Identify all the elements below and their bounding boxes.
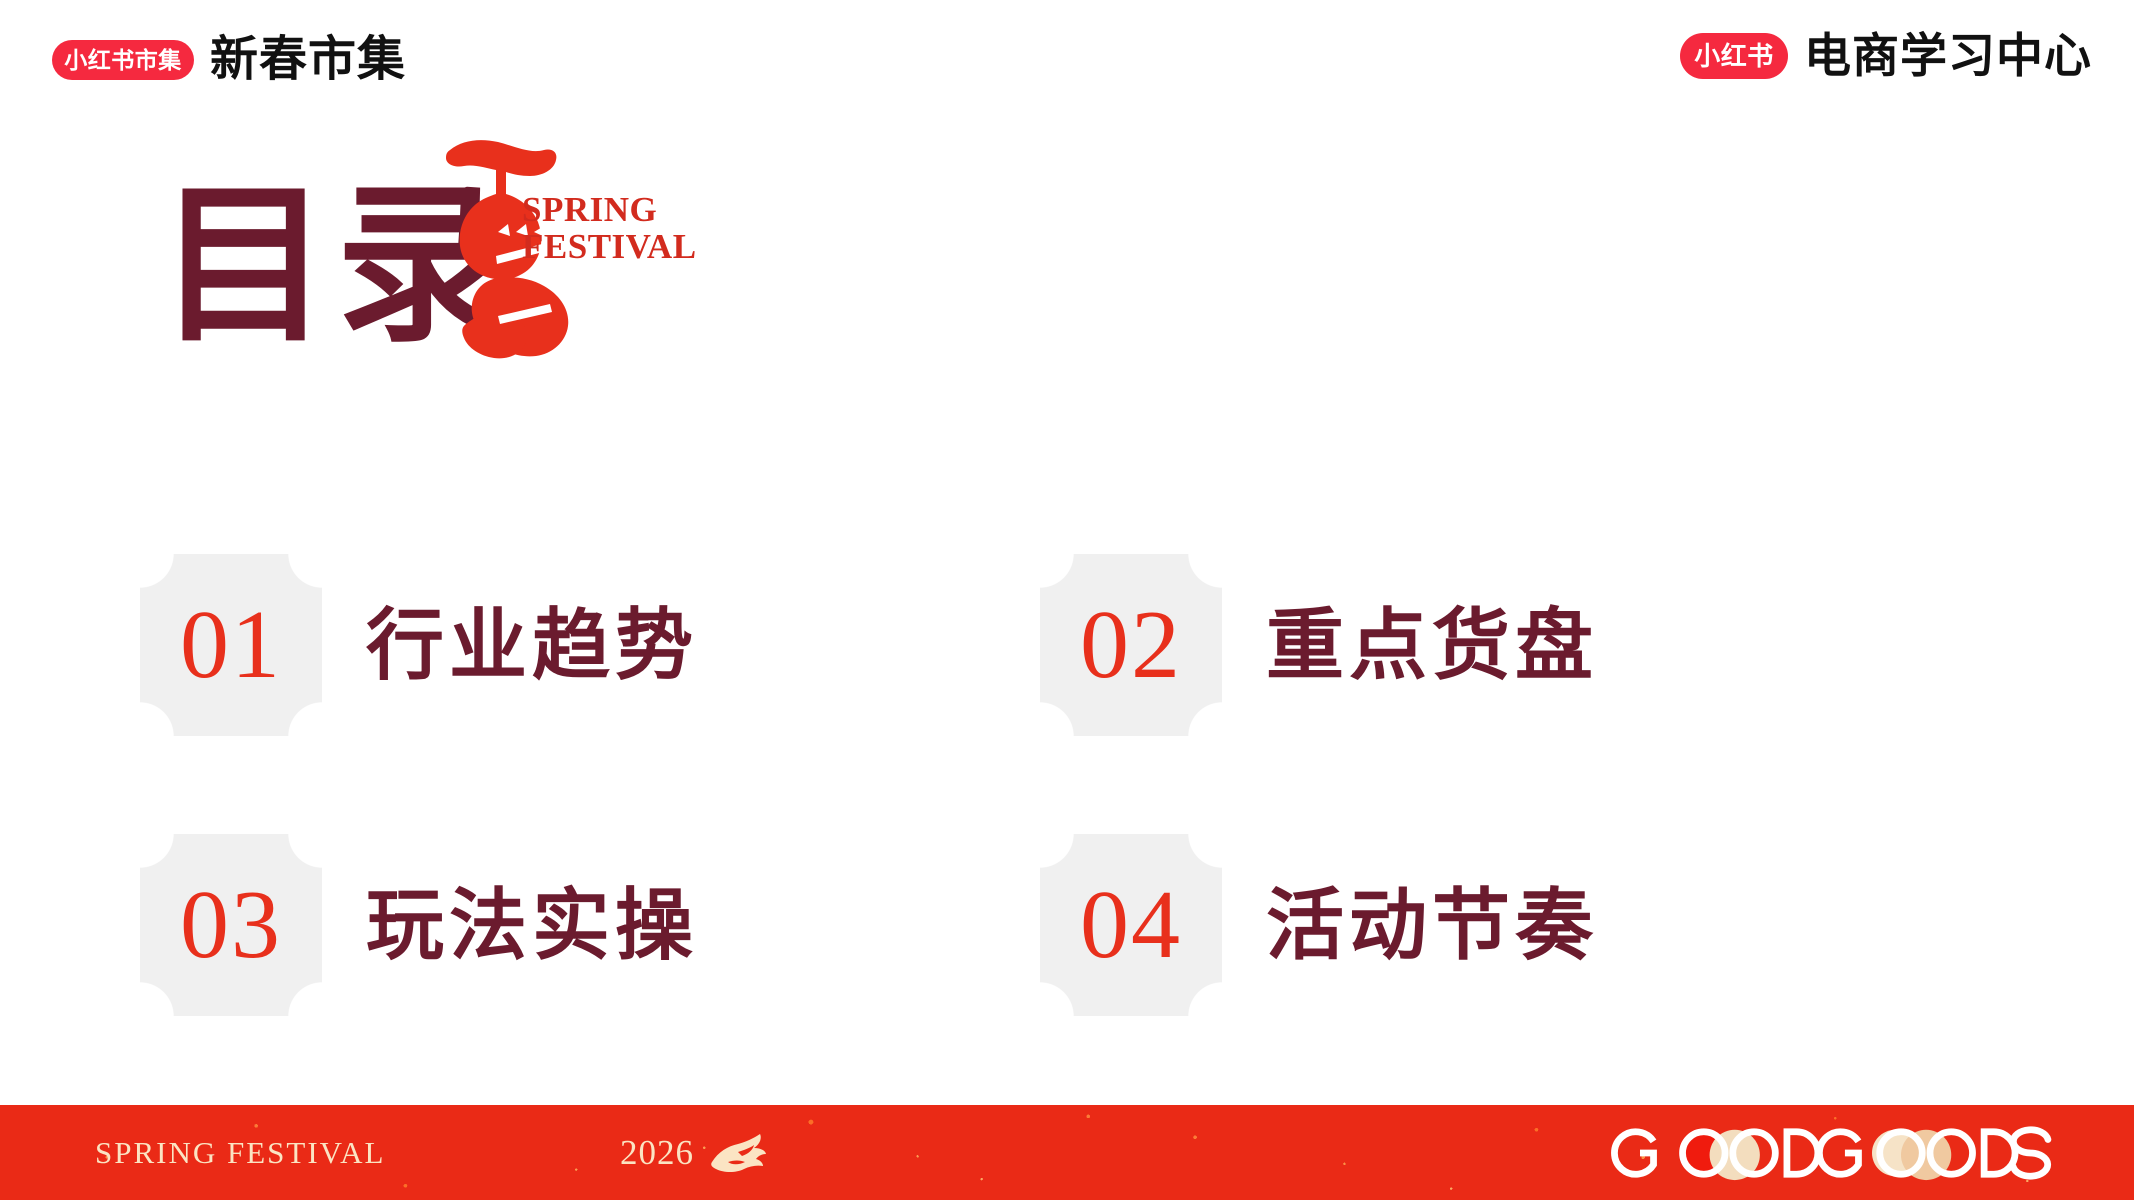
toc-number: 02 — [1080, 596, 1182, 694]
brand-right: 小红书 电商学习中心 — [1680, 32, 2092, 79]
toc-number: 03 — [180, 876, 282, 974]
toc-number-badge: 03 — [140, 834, 322, 1016]
toc-number-badge: 02 — [1040, 554, 1222, 736]
slide-root: 小红书市集 新春市集 小红书 电商学习中心 目录 SP — [0, 0, 2134, 1200]
toc-number-badge: 01 — [140, 554, 322, 736]
page-title-block: 目录 SPRING FESTIVAL — [150, 150, 850, 380]
toc-number: 04 — [1080, 876, 1182, 974]
festival-line-1: SPRING — [522, 192, 697, 229]
toc-number-badge: 04 — [1040, 834, 1222, 1016]
toc-item-04[interactable]: 04 活动节奏 — [1040, 785, 1940, 1065]
horse-flame-icon — [708, 1132, 768, 1174]
brand-right-title: 电商学习中心 — [1804, 32, 2092, 79]
slide-footer: SPRING FESTIVAL 2026 — [0, 1105, 2134, 1200]
festival-line-2: FESTIVAL — [522, 229, 697, 266]
toc-item-03[interactable]: 03 玩法实操 — [140, 785, 1040, 1065]
toc-label: 重点货盘 — [1266, 606, 1598, 684]
toc-label: 行业趋势 — [366, 606, 698, 684]
toc-label: 玩法实操 — [366, 886, 698, 964]
footer-year-text: 2026 — [620, 1133, 694, 1173]
toc-number: 01 — [180, 596, 282, 694]
spring-festival-label: SPRING FESTIVAL — [522, 192, 697, 266]
slide-header: 小红书市集 新春市集 小红书 电商学习中心 — [0, 0, 2134, 120]
footer-year-block: 2026 — [620, 1132, 768, 1174]
toc-label: 活动节奏 — [1266, 886, 1598, 964]
brand-left-title: 新春市集 — [210, 36, 406, 84]
goodgoods-logo — [1611, 1124, 2056, 1182]
xiaohongshu-market-badge: 小红书市集 — [52, 40, 194, 80]
toc-item-01[interactable]: 01 行业趋势 — [140, 505, 1040, 785]
xiaohongshu-badge: 小红书 — [1680, 33, 1788, 79]
table-of-contents: 01 行业趋势 02 重点货盘 03 玩法实操 04 活动节奏 — [140, 505, 1940, 1065]
brand-left: 小红书市集 新春市集 — [52, 36, 406, 84]
footer-spring-festival-text: SPRING FESTIVAL — [95, 1135, 385, 1171]
toc-item-02[interactable]: 02 重点货盘 — [1040, 505, 1940, 785]
